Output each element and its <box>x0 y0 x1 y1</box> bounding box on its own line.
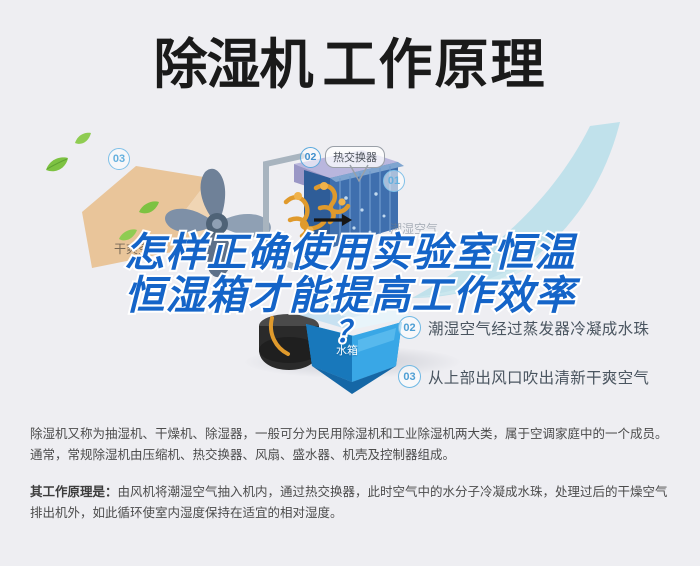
body-copy: 除湿机又称为抽湿机、干燥机、除湿器，一般可分为民用除湿机和工业除湿机两大类，属于… <box>30 424 675 524</box>
moist-air-label: 潮湿空气 <box>390 220 438 237</box>
title-text: 除湿机工作原理 <box>154 38 547 92</box>
legend-badge-03: 03 <box>398 365 421 388</box>
marker-badge-03: 03 <box>108 148 130 170</box>
infographic-page: 除湿机工作原理 干爽空气 <box>0 0 700 566</box>
legend-badge-02: 02 <box>398 316 421 339</box>
water-tank-icon: 水箱 <box>292 290 412 396</box>
water-tank-label: 水箱 <box>336 342 358 358</box>
paragraph-2-lead: 其工作原理是： <box>30 485 118 499</box>
marker-badge-01: 01 <box>383 170 405 192</box>
title-part1: 除湿机 <box>154 35 313 95</box>
legend-text-03: 从上部出风口吹出清新干爽空气 <box>428 366 649 388</box>
legend: 02 潮湿空气经过蒸发器冷凝成水珠 03 从上部出风口吹出清新干爽空气 <box>398 316 688 400</box>
paragraph-1: 除湿机又称为抽湿机、干燥机、除湿器，一般可分为民用除湿机和工业除湿机两大类，属于… <box>30 424 675 466</box>
legend-item: 03 从上部出风口吹出清新干爽空气 <box>398 365 688 388</box>
page-title: 除湿机工作原理 <box>0 24 700 106</box>
heat-exchanger-callout: 02 热交换器 <box>300 146 385 168</box>
leaf-icon <box>44 156 70 179</box>
callout-badge-02: 02 <box>300 147 321 168</box>
legend-item: 02 潮湿空气经过蒸发器冷凝成水珠 <box>398 316 688 339</box>
leaf-icon <box>74 132 92 151</box>
title-part2: 工作原理 <box>323 35 547 95</box>
paragraph-2-rest: 由风机将潮湿空气抽入机内，通过热交换器，此时空气中的水分子冷凝成水珠，处理过后的… <box>30 485 668 520</box>
callout-tail-icon <box>348 164 370 189</box>
legend-text-02: 潮湿空气经过蒸发器冷凝成水珠 <box>428 317 649 339</box>
paragraph-2: 其工作原理是：由风机将潮湿空气抽入机内，通过热交换器，此时空气中的水分子冷凝成水… <box>30 482 675 524</box>
marker-01: 01 <box>383 170 405 192</box>
marker-03: 03 <box>108 148 130 170</box>
illustration-banner: 干爽空气 <box>0 108 700 400</box>
leaf-icon <box>138 200 160 221</box>
leaf-icon <box>118 228 138 248</box>
